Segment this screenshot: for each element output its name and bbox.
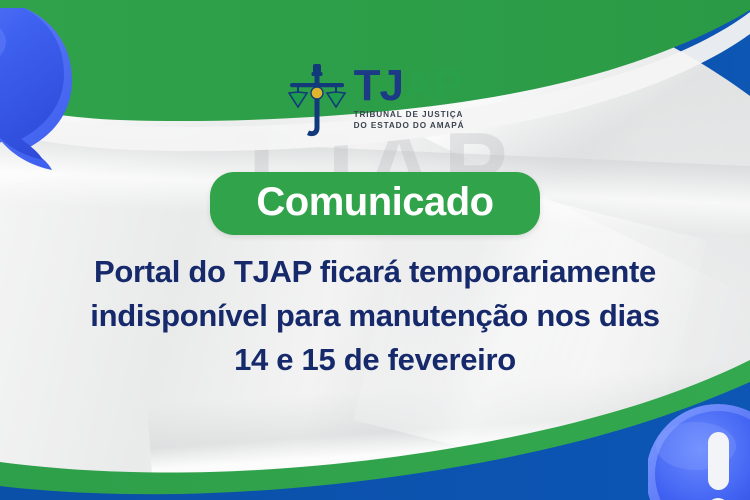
headline-line-3: 14 e 15 de fevereiro: [40, 338, 710, 382]
logo-wordmark-ap: AP: [403, 61, 462, 110]
headline-line-1: Portal do TJAP ficará temporariamente: [40, 250, 710, 294]
logo-subtitle: TRIBUNAL DE JUSTIÇA DO ESTADO DO AMAPÁ: [354, 110, 465, 132]
comunicado-poster: TJAP: [0, 0, 750, 500]
headline-line-2: indisponível para manutenção nos dias: [40, 294, 710, 338]
logo-subtitle-line1: TRIBUNAL DE JUSTIÇA: [354, 110, 465, 121]
tjap-logo: TJAP TRIBUNAL DE JUSTIÇA DO ESTADO DO AM…: [0, 62, 750, 142]
badge-container: Comunicado: [0, 172, 750, 235]
comunicado-badge: Comunicado: [210, 172, 539, 235]
headline: Portal do TJAP ficará temporariamente in…: [40, 250, 710, 382]
logo-subtitle-line2: DO ESTADO DO AMAPÁ: [354, 121, 465, 132]
logo-wordmark-tj: TJ: [354, 61, 403, 110]
logo-wordmark: TJAP: [354, 66, 465, 106]
logo-wordmark-block: TJAP TRIBUNAL DE JUSTIÇA DO ESTADO DO AM…: [354, 62, 465, 132]
alert-exclamation-icon: [648, 404, 750, 500]
scales-of-justice-icon: [286, 62, 348, 142]
